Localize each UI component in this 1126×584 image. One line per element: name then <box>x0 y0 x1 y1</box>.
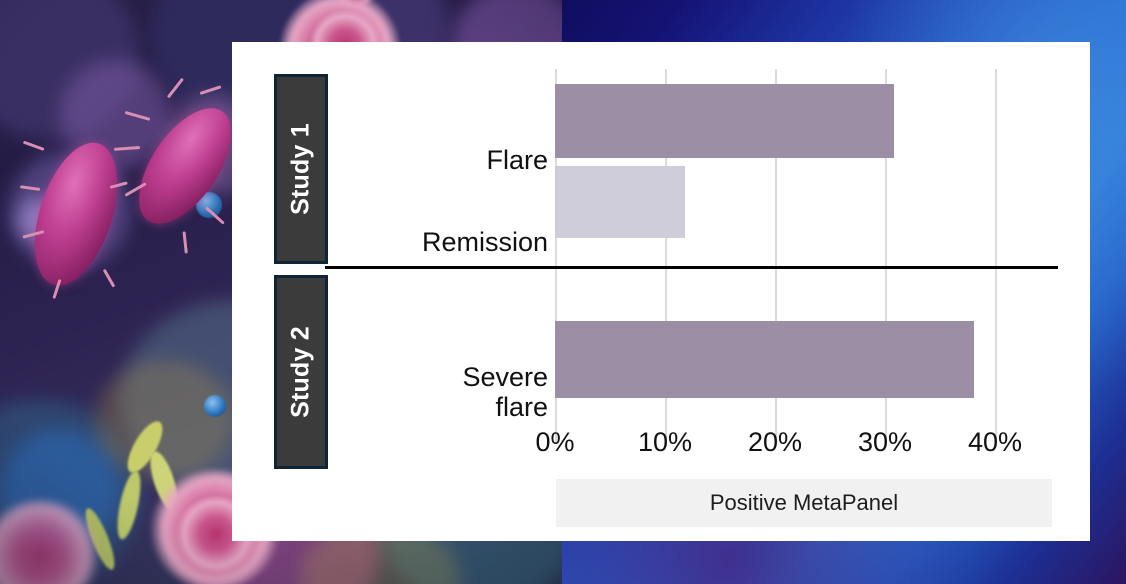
category-label-remission: Remission <box>422 227 548 257</box>
study-separator-line <box>325 266 1058 269</box>
xtick-label-30: 30% <box>858 427 912 458</box>
study-2-text: Study 2 <box>287 326 316 418</box>
xtick-label-40: 40% <box>968 427 1022 458</box>
xtick-label-0: 0% <box>535 427 574 458</box>
plot-area <box>555 69 1018 444</box>
slide-background: Study 1 Study 2 Flare Remission Severe f… <box>0 0 1126 584</box>
study-group-label-1: Study 1 <box>274 74 328 264</box>
x-axis-title: Positive MetaPanel <box>710 490 898 516</box>
category-label-severe-flare-line1: Severe <box>462 362 548 392</box>
xtick-label-20: 20% <box>748 427 802 458</box>
xtick-label-10: 10% <box>638 427 692 458</box>
category-label-severe-flare-line2: flare <box>462 392 548 422</box>
gridline-40 <box>995 69 997 444</box>
study-group-label-2: Study 2 <box>274 275 328 469</box>
bar-severe-flare <box>555 321 974 398</box>
bar-remission <box>555 166 685 238</box>
category-label-flare: Flare <box>486 145 548 175</box>
study-1-text: Study 1 <box>287 123 316 215</box>
x-axis-title-band: Positive MetaPanel <box>556 479 1052 527</box>
bar-flare <box>555 84 894 158</box>
chart-card: Study 1 Study 2 Flare Remission Severe f… <box>232 42 1090 541</box>
category-label-severe-flare: Severe flare <box>462 362 548 422</box>
